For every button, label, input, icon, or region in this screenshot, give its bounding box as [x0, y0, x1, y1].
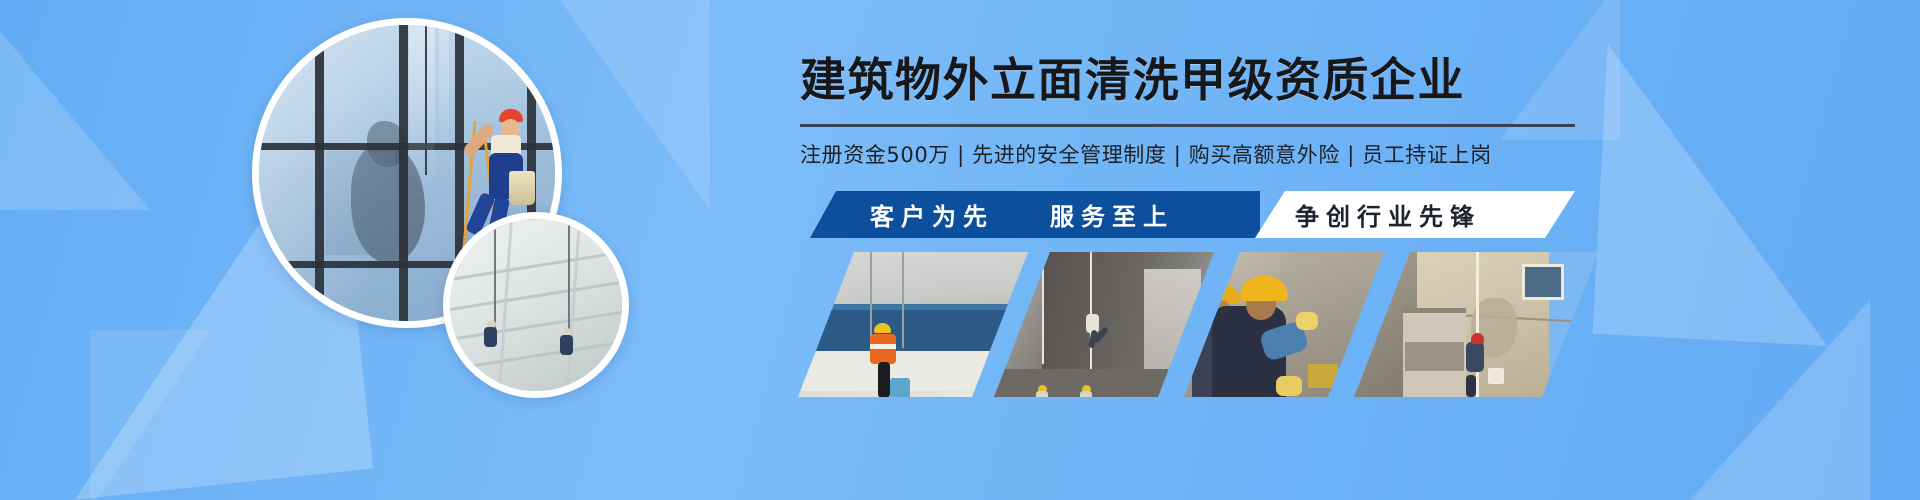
strip-photo-4 [1354, 252, 1598, 397]
banner-subtitle: 注册资金500万 | 先进的安全管理制度 | 购买高额意外险 | 员工持证上岗 [800, 140, 1492, 170]
slogan-item-3: 争创行业先锋 [1295, 191, 1481, 238]
slogan-text-2: 服务至上 [1050, 197, 1174, 232]
slogan-bar: 客户为先 服务至上 争创行业先锋 [800, 191, 1590, 238]
title-underline [800, 124, 1575, 127]
photo-circle-small [443, 212, 629, 398]
strip-photo-2 [994, 252, 1214, 397]
promo-banner: 建筑物外立面清洗甲级资质企业 注册资金500万 | 先进的安全管理制度 | 购买… [0, 0, 1920, 500]
background-triangle [560, 0, 710, 210]
slogan-item-2: 服务至上 [1050, 191, 1174, 238]
strip-photo-1 [798, 252, 1028, 397]
slogan-item-1: 客户为先 [870, 191, 994, 238]
photo-strip [798, 252, 1598, 397]
background-triangle [1690, 300, 1870, 500]
metal-facade-workers-photo [450, 219, 622, 391]
banner-title: 建筑物外立面清洗甲级资质企业 [800, 52, 1465, 108]
slogan-text-3: 争创行业先锋 [1295, 197, 1481, 232]
strip-photo-3 [1184, 252, 1384, 397]
background-triangle [90, 330, 210, 500]
banner-content: 建筑物外立面清洗甲级资质企业 注册资金500万 | 先进的安全管理制度 | 购买… [800, 0, 1590, 500]
slogan-text-1: 客户为先 [870, 197, 994, 232]
